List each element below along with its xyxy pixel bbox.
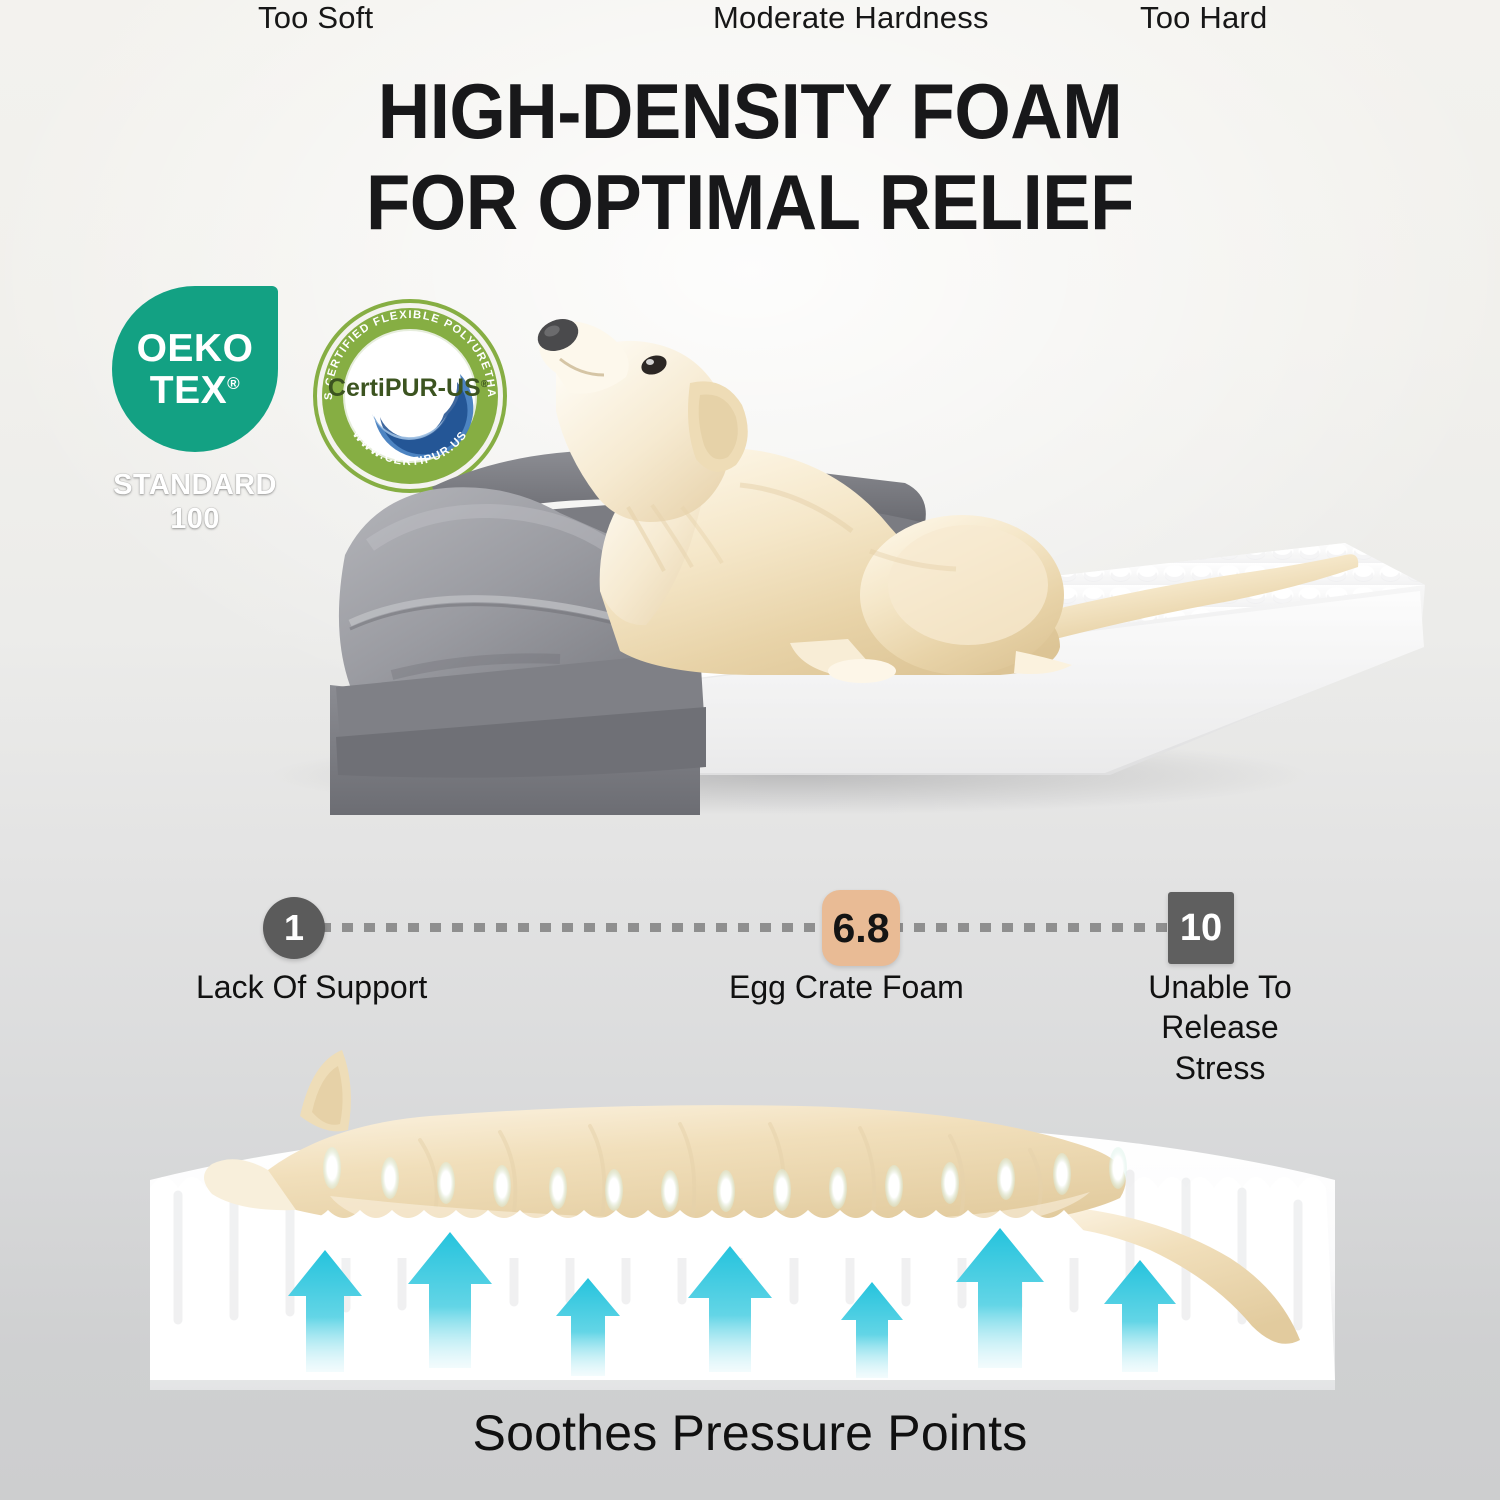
scale-top-label-moderate: Moderate Hardness xyxy=(713,0,989,36)
bottom-caption: Soothes Pressure Points xyxy=(0,1404,1500,1462)
scale-bottom-label-line-1: Unable To xyxy=(1122,967,1318,1007)
pressure-points-image xyxy=(0,1020,1500,1410)
scale-connector-line xyxy=(320,923,1190,932)
hero-product-image xyxy=(0,255,1500,815)
scale-top-label-too-hard: Too Hard xyxy=(1140,0,1267,36)
infographic-page: HIGH-DENSITY FOAM FOR OPTIMAL RELIEF OEK… xyxy=(0,0,1500,1500)
scale-bottom-label-lack-of-support: Lack Of Support xyxy=(196,967,427,1007)
scale-marker-10: 10 xyxy=(1168,892,1234,964)
scale-marker-1: 1 xyxy=(263,897,325,959)
scale-marker-6-8: 6.8 xyxy=(822,890,900,966)
page-title-line-1: HIGH-DENSITY FOAM xyxy=(378,67,1122,155)
scale-bottom-label-egg-crate-foam: Egg Crate Foam xyxy=(729,967,964,1007)
page-title: HIGH-DENSITY FOAM FOR OPTIMAL RELIEF xyxy=(53,66,1448,249)
page-title-line-2: FOR OPTIMAL RELIEF xyxy=(53,157,1448,248)
scale-top-label-too-soft: Too Soft xyxy=(258,0,373,36)
